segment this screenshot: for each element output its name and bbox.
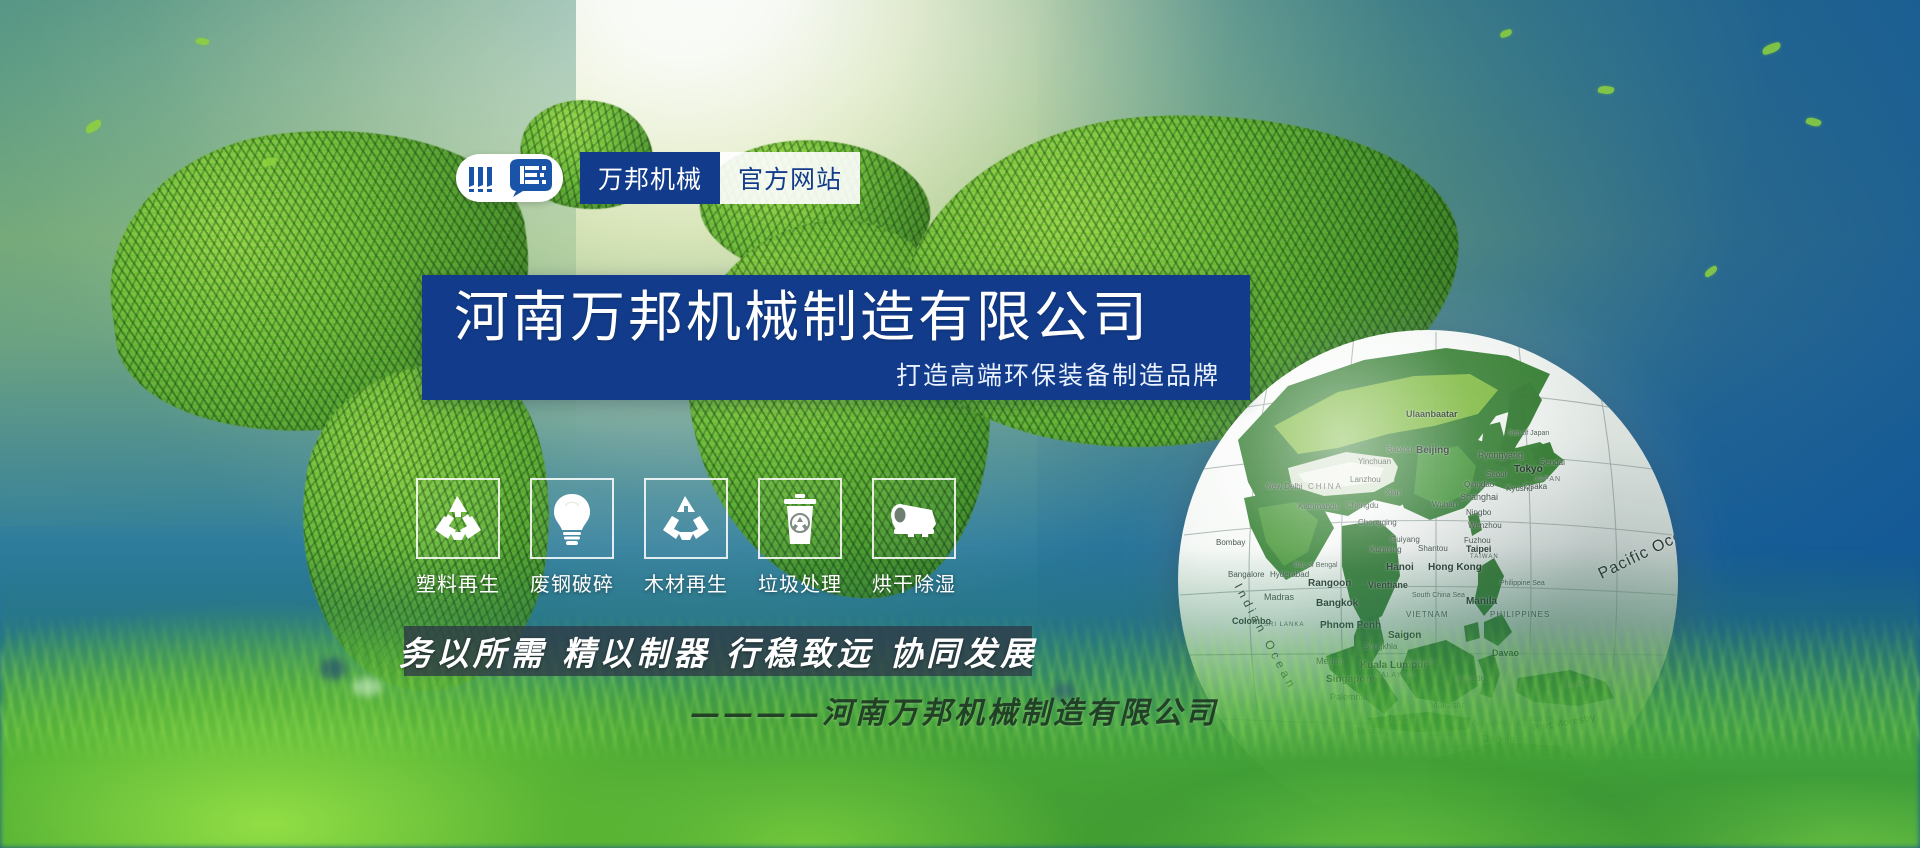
rotary-dryer-drum-icon [886,500,942,538]
grass-bokeh [320,658,346,680]
logo-w-icon [466,163,504,193]
feature-icon-box [644,478,728,559]
feature-label: 废钢破碎 [530,568,614,597]
lightbulb-icon [550,492,594,546]
feature-icon-row: 塑料再生 废钢破碎 [418,478,954,597]
company-name: 河南万邦机械制造有限公司 [422,290,1250,345]
recycle-icon [660,494,712,544]
feature-plastic-recycling[interactable]: 塑料再生 [418,478,498,597]
tab-wanbang-machinery[interactable]: 万邦机械 [580,152,720,204]
company-tagline: 打造高端环保装备制造品牌 [422,363,1250,388]
slogan-text: 务以所需 精以制器 行稳致远 协同发展 [399,627,1037,675]
grass-bokeh [352,678,382,696]
slogan-attribution: ————河南万邦机械制造有限公司 [690,688,1218,732]
feature-icon-box [872,478,956,559]
recycle-icon [432,494,484,544]
feature-icon-box [530,478,614,559]
feature-icon-box [758,478,842,559]
slogan-banner: 务以所需 精以制器 行稳致远 协同发展 [404,626,1032,676]
feature-label: 烘干除湿 [872,568,956,597]
tab-official-website[interactable]: 官方网站 [720,152,860,204]
feature-scrap-steel-crushing[interactable]: 废钢破碎 [532,478,612,597]
feature-drying-dehumidifying[interactable]: 烘干除湿 [874,478,954,597]
feature-label: 木材再生 [644,568,728,597]
hero-banner: Ulaanbaatar Beijing Baotou Yinchuan Lanz… [0,0,1920,848]
trash-recycle-bin-icon [780,492,820,546]
feature-waste-treatment[interactable]: 垃圾处理 [760,478,840,597]
feature-label: 垃圾处理 [758,568,842,597]
site-header: 万邦机械 官方网站 [456,152,860,204]
feature-icon-box [416,478,500,559]
header-tabs: 万邦机械 官方网站 [580,152,860,204]
feature-label: 塑料再生 [416,568,500,597]
company-title-block: 河南万邦机械制造有限公司 打造高端环保装备制造品牌 [422,275,1250,400]
feature-wood-recycling[interactable]: 木材再生 [646,478,726,597]
logo-b-speech-bubble-icon [509,158,553,198]
wanbang-logo[interactable] [456,154,563,202]
